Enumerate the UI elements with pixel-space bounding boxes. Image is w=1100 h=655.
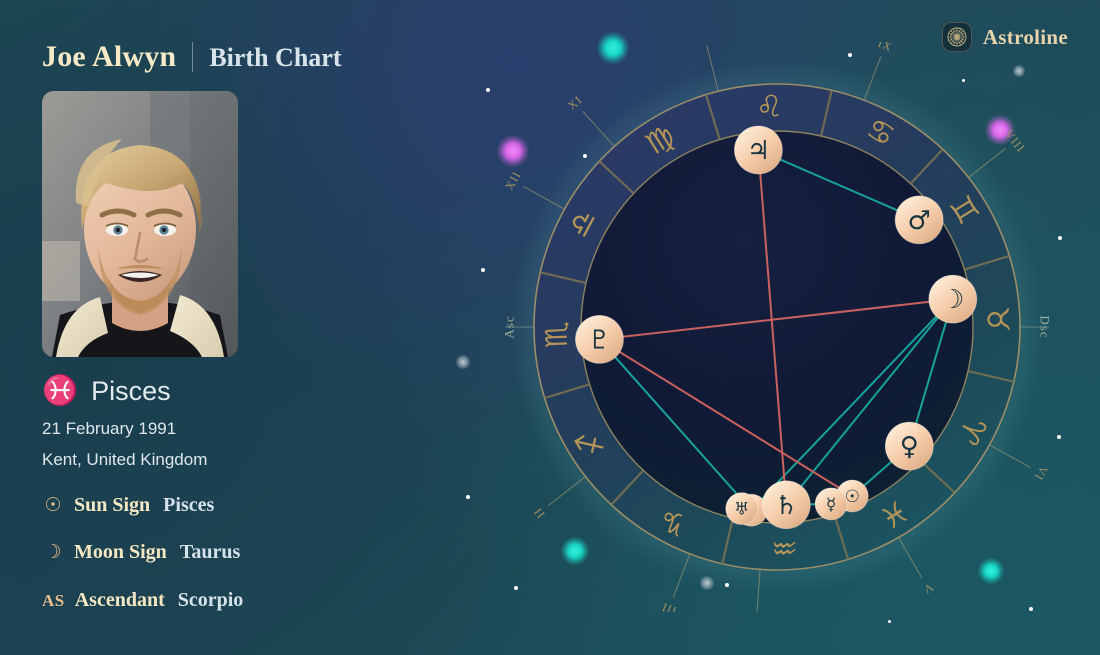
star-dot	[888, 620, 891, 623]
house-label-iii: III	[659, 600, 678, 612]
trait-row-moon-sign: ☽ Moon Sign Taurus	[42, 541, 240, 564]
birth-chart-wheel[interactable]: ♈♉♊♋♌♍♎♏♐♑♒♓ XIXVIIIDscVIVIVIIIIIAscXIIX…	[492, 42, 1062, 612]
planet-token-saturn[interactable]: ♄	[762, 481, 810, 529]
ascendant-value: Scorpio	[178, 589, 244, 612]
planet-glyph-pluto: ♇	[588, 325, 611, 355]
house-label-asc: Asc	[502, 315, 517, 338]
house-label-ii: II	[530, 505, 547, 521]
planet-glyph-venus: ♀	[900, 432, 919, 462]
planet-token-mercury[interactable]: ☿	[815, 488, 847, 520]
trait-row-ascendant: AS Ascendant Scorpio	[42, 589, 243, 612]
star-dot	[481, 268, 485, 272]
planet-token-pluto[interactable]: ♇	[575, 315, 623, 363]
person-name: Joe Alwyn	[42, 40, 176, 74]
planet-glyph-saturn: ♄	[775, 491, 798, 521]
planet-token-mars[interactable]: ♂	[895, 196, 943, 244]
ascendant-label: Ascendant	[75, 589, 165, 612]
house-label-v: V	[920, 580, 935, 597]
birth-place: Kent, United Kingdom	[42, 450, 207, 470]
zodiac-glyph-aquarius: ♒	[771, 529, 799, 565]
zodiac-glyph-scorpio: ♏	[539, 321, 575, 349]
pisces-glyph-icon: ♓	[42, 377, 78, 406]
planet-glyph-mercury: ☿	[826, 495, 836, 515]
planet-glyph-moon: ☽	[941, 285, 964, 315]
moon-sign-value: Taurus	[180, 541, 240, 564]
natal-wheel-svg: ♈♉♊♋♌♍♎♏♐♑♒♓ XIXVIIIDscVIVIVIIIIIAscXIIX…	[492, 42, 1062, 612]
moon-icon: ☽	[42, 542, 64, 564]
planet-token-venus[interactable]: ♀	[885, 422, 933, 470]
star-dot	[486, 88, 490, 92]
zodiac-glyph-taurus: ♉	[979, 305, 1015, 333]
star-dot	[466, 495, 470, 499]
avatar	[42, 91, 238, 357]
sun-sign-value: Pisces	[163, 494, 214, 517]
trait-row-sun-sign: ☉ Sun Sign Pisces	[42, 494, 214, 517]
portrait-photo	[42, 91, 238, 357]
house-label-vi: VI	[1031, 464, 1050, 484]
house-label-viii: VIII	[1002, 127, 1028, 155]
sun-sign-label: Sun Sign	[74, 494, 150, 517]
title-divider	[192, 42, 193, 72]
house-label-xii: XII	[502, 169, 524, 193]
house-label-xi: XI	[565, 92, 585, 112]
planet-glyph-mars: ♂	[908, 206, 931, 236]
zodiac-glyph-leo: ♌	[755, 89, 783, 125]
planet-token-moon[interactable]: ☽	[929, 275, 977, 323]
planet-glyph-jupiter: ♃	[747, 136, 770, 166]
page-title: Joe Alwyn Birth Chart	[42, 40, 341, 74]
house-label-ix: IX	[876, 42, 895, 54]
sun-sign-name: Pisces	[91, 376, 171, 407]
planet-glyph-uranus: ♅	[734, 500, 749, 520]
planet-token-uranus[interactable]: ♅	[726, 493, 758, 525]
glow-orb-grey	[456, 355, 470, 369]
moon-sign-label: Moon Sign	[74, 541, 167, 564]
birth-date: 21 February 1991	[42, 419, 176, 439]
sun-icon: ☉	[42, 495, 64, 517]
planet-token-jupiter[interactable]: ♃	[734, 126, 782, 174]
birth-chart-poster: Joe Alwyn Birth Chart	[0, 0, 1100, 655]
chart-label: Birth Chart	[209, 43, 341, 73]
ascendant-icon: AS	[42, 590, 65, 612]
house-label-dsc: Dsc	[1038, 315, 1053, 338]
sun-sign-heading: ♓ Pisces	[42, 376, 171, 407]
